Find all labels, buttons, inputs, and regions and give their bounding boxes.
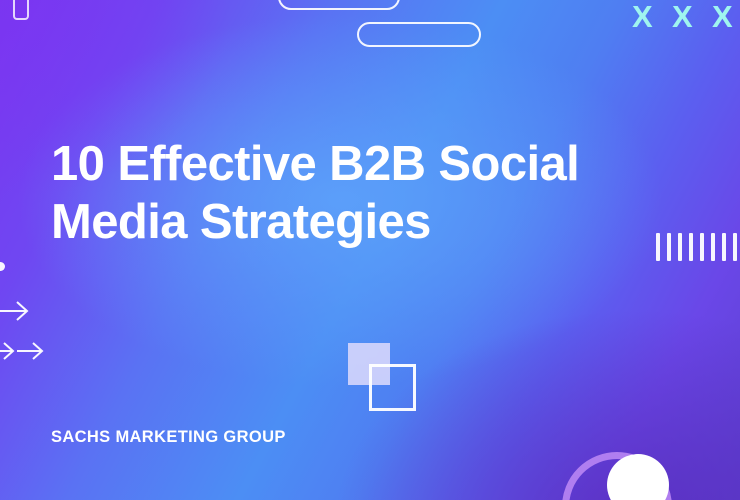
- brand-name: SACHS MARKETING GROUP: [51, 428, 286, 447]
- slide-canvas: X X X 10 Effective B2B Social Media Stra…: [0, 0, 740, 500]
- arrow-right-icon-1: [0, 299, 30, 323]
- rounded-rect-outline-decoration: [13, 0, 29, 20]
- arrow-right-icon-3: [17, 340, 45, 362]
- arrow-right-icon-2: [0, 340, 16, 362]
- x-mark-icon-2: X: [672, 1, 693, 32]
- dot-decoration: [0, 262, 5, 271]
- outlined-square-decoration: [369, 364, 416, 411]
- pill-outline-decoration-top: [278, 0, 400, 10]
- pill-outline-decoration-second: [357, 22, 481, 47]
- x-mark-icon-3: X: [712, 1, 733, 32]
- x-mark-icon-1: X: [632, 1, 653, 32]
- vertical-stripes-decoration: [656, 233, 740, 261]
- page-title: 10 Effective B2B Social Media Strategies: [51, 135, 651, 251]
